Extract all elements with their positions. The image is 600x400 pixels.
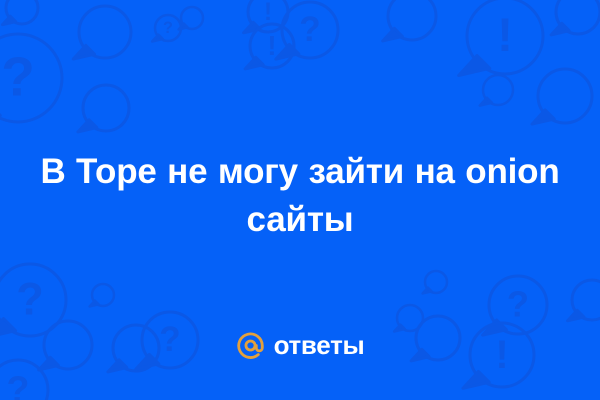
speech-bubble-icon — [568, 280, 600, 321]
speech-bubble-exclamation-icon: ! — [459, 0, 543, 76]
speech-bubble-question-icon: ? — [152, 15, 181, 42]
svg-text:?: ? — [16, 273, 44, 324]
brand-logo-label: ответы — [274, 331, 365, 360]
speech-bubble-icon — [73, 6, 131, 59]
page-title: В Торе не могу зайти на onion сайты — [0, 148, 600, 244]
speech-bubble-icon — [383, 0, 436, 41]
speech-bubble-icon — [532, 69, 592, 124]
speech-bubble-icon — [2, 0, 38, 25]
speech-bubble-icon — [480, 75, 513, 106]
speech-bubble-exclamation-icon: ! — [244, 0, 288, 33]
speech-bubble-question-icon: ? — [0, 34, 62, 124]
svg-text:?: ? — [7, 368, 30, 400]
speech-bubble-question-icon: ? — [483, 276, 547, 335]
svg-text:!: ! — [497, 9, 513, 62]
og-card: !?!??!????! В Торе не могу зайти на onio… — [0, 0, 600, 400]
speech-bubble-icon — [78, 85, 129, 132]
svg-text:?: ? — [507, 284, 529, 325]
speech-bubble-question-icon: ? — [0, 264, 66, 337]
speech-bubble-icon — [394, 305, 423, 332]
at-sign-icon — [236, 331, 265, 360]
speech-bubble-icon — [179, 7, 203, 29]
svg-text:?: ? — [163, 19, 173, 37]
speech-bubble-icon — [551, 0, 600, 35]
speech-bubble-question-icon: ? — [276, 2, 338, 59]
question-title-text: В Торе не могу зайти на onion сайты — [20, 148, 580, 244]
svg-text:!: ! — [264, 0, 272, 26]
speech-bubble-exclamation-icon: ! — [245, 24, 294, 69]
svg-text:?: ? — [1, 46, 35, 108]
speech-bubble-icon — [423, 271, 447, 293]
svg-text:!: ! — [267, 30, 276, 61]
svg-text:?: ? — [299, 10, 320, 49]
speech-bubble-question-icon: ? — [0, 360, 48, 400]
speech-bubble-icon — [90, 284, 114, 306]
brand-logo[interactable]: ответы — [0, 331, 600, 360]
